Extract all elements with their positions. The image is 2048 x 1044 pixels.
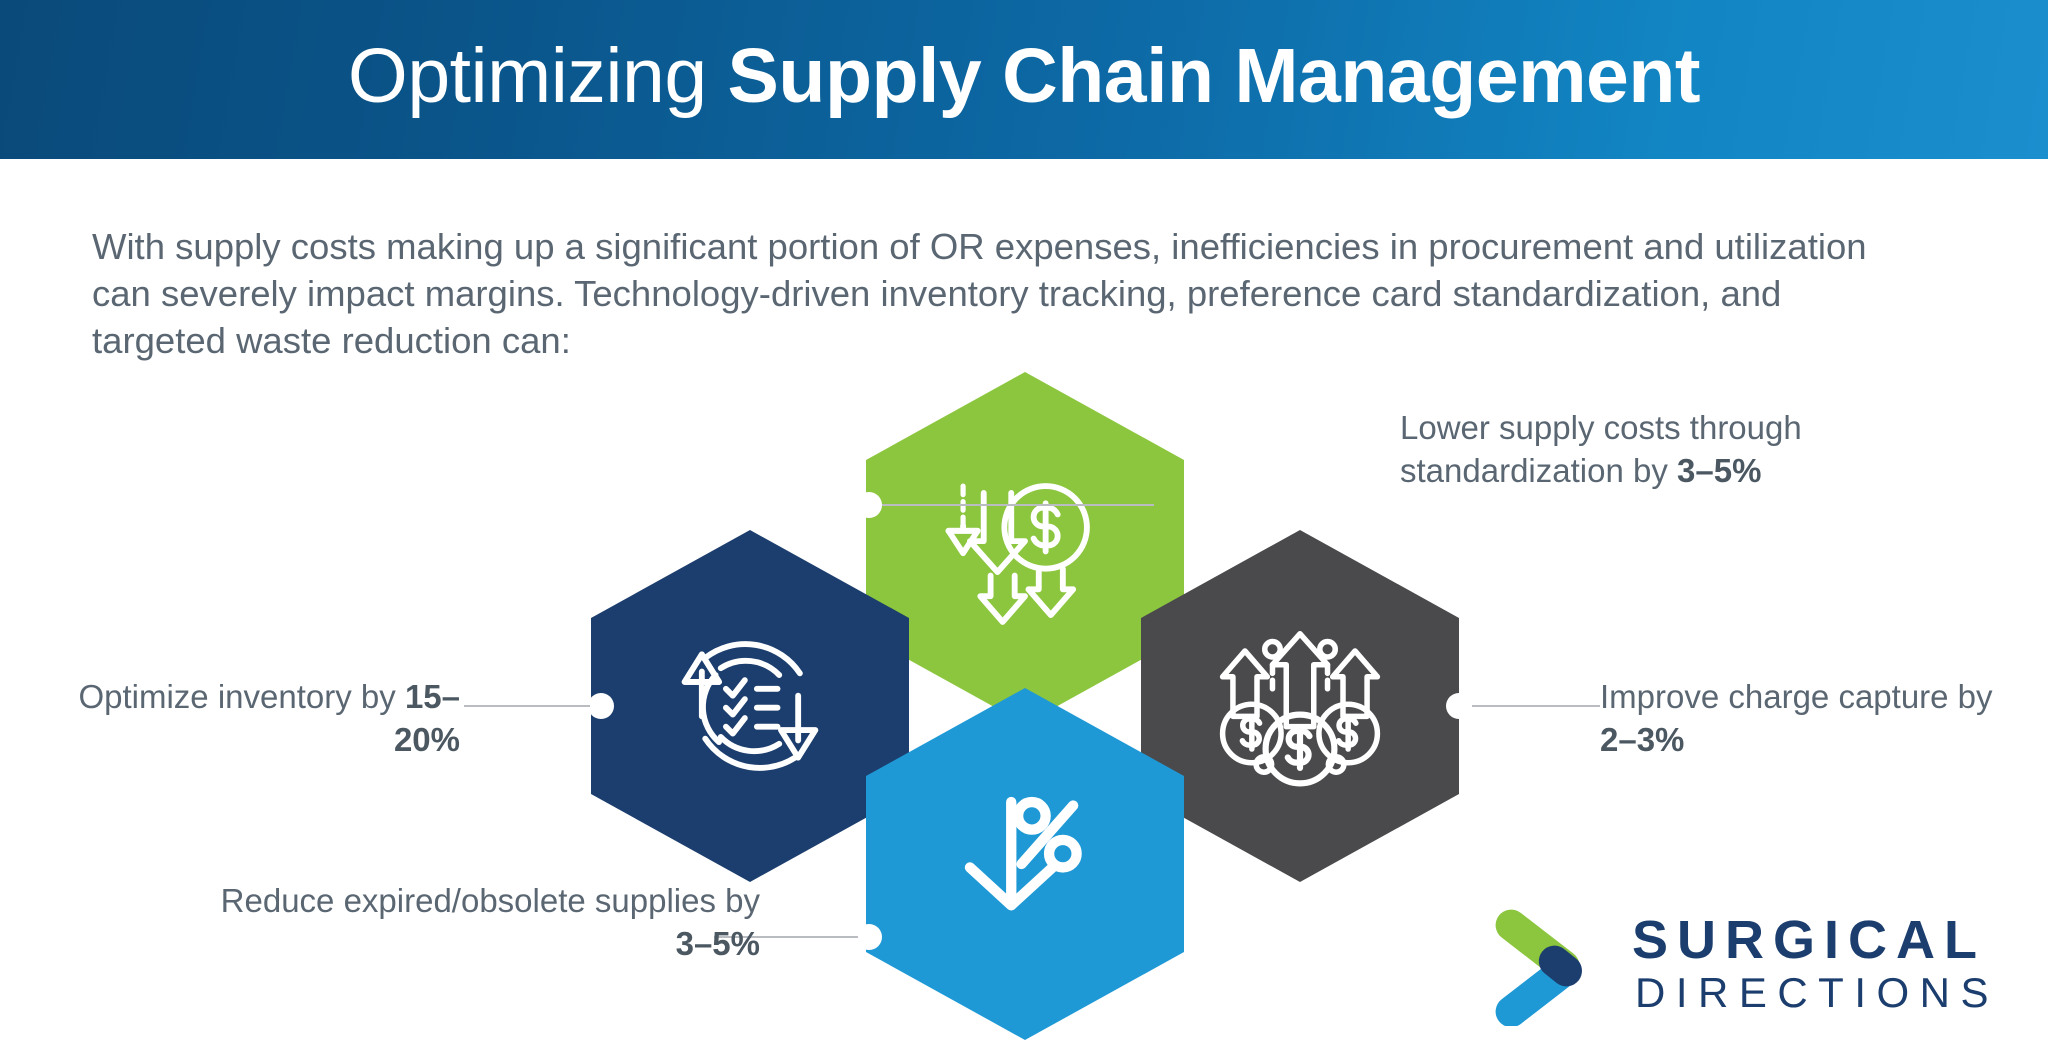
hexagon-optimize-inventory[interactable] [591, 530, 909, 882]
callout-reduce-expired-supplies: Reduce expired/obsolete supplies by 3–5% [220, 880, 760, 966]
callout-optimize-inventory: Optimize inventory by 15–20% [40, 676, 460, 762]
page-title-bold: Supply Chain Management [728, 33, 1701, 119]
logo-wordmark: SURGICAL DIRECTIONS [1632, 912, 1999, 1016]
header-bar: Optimizing Supply Chain Management [0, 0, 2048, 159]
cycle-checklist-icon [664, 620, 836, 792]
callout-improve-charge-text: Improve charge capture by [1600, 678, 1993, 715]
hexagon-improve-charge-capture[interactable] [1141, 530, 1459, 882]
callout-lower-supply-value: 3–5% [1677, 452, 1761, 489]
callout-reduce-expired-text: Reduce expired/obsolete supplies by [221, 882, 760, 919]
page-title-light: Optimizing [348, 33, 728, 119]
connector-dot-blue [856, 924, 882, 950]
intro-paragraph: With supply costs making up a significan… [92, 223, 1922, 365]
connector-line-navy [464, 705, 590, 707]
arrows-down-dollar-icon [939, 462, 1111, 634]
hexagon-gray-inner [1141, 530, 1459, 882]
hexagon-blue-inner [866, 688, 1184, 1040]
arrows-up-coins-icon [1214, 620, 1386, 792]
logo-line-directions: DIRECTIONS [1632, 969, 1999, 1016]
callout-improve-charge-capture: Improve charge capture by 2–3% [1600, 676, 2000, 762]
hexagon-green-inner [866, 372, 1184, 724]
hexagon-navy-inner [591, 530, 909, 882]
connector-dot-green [856, 492, 882, 518]
connector-line-green [882, 504, 1154, 506]
logo[interactable]: SURGICAL DIRECTIONS [1492, 900, 2016, 1032]
surgical-directions-mark-icon [1492, 906, 1612, 1026]
connector-dot-gray [1446, 693, 1472, 719]
hexagon-lower-supply-costs[interactable] [866, 372, 1184, 724]
hexagon-reduce-expired-supplies[interactable] [866, 688, 1184, 1040]
logo-line-surgical: SURGICAL [1632, 912, 1999, 969]
callout-improve-charge-value: 2–3% [1600, 721, 1684, 758]
connector-dot-navy [588, 693, 614, 719]
callout-lower-supply-costs: Lower supply costs through standardizati… [1400, 407, 2000, 493]
callout-reduce-expired-value: 3–5% [676, 925, 760, 962]
arrow-down-percent-icon [939, 778, 1111, 950]
callout-optimize-inventory-text: Optimize inventory by [78, 678, 404, 715]
connector-line-gray [1472, 705, 1600, 707]
page-title: Optimizing Supply Chain Management [348, 38, 1700, 115]
